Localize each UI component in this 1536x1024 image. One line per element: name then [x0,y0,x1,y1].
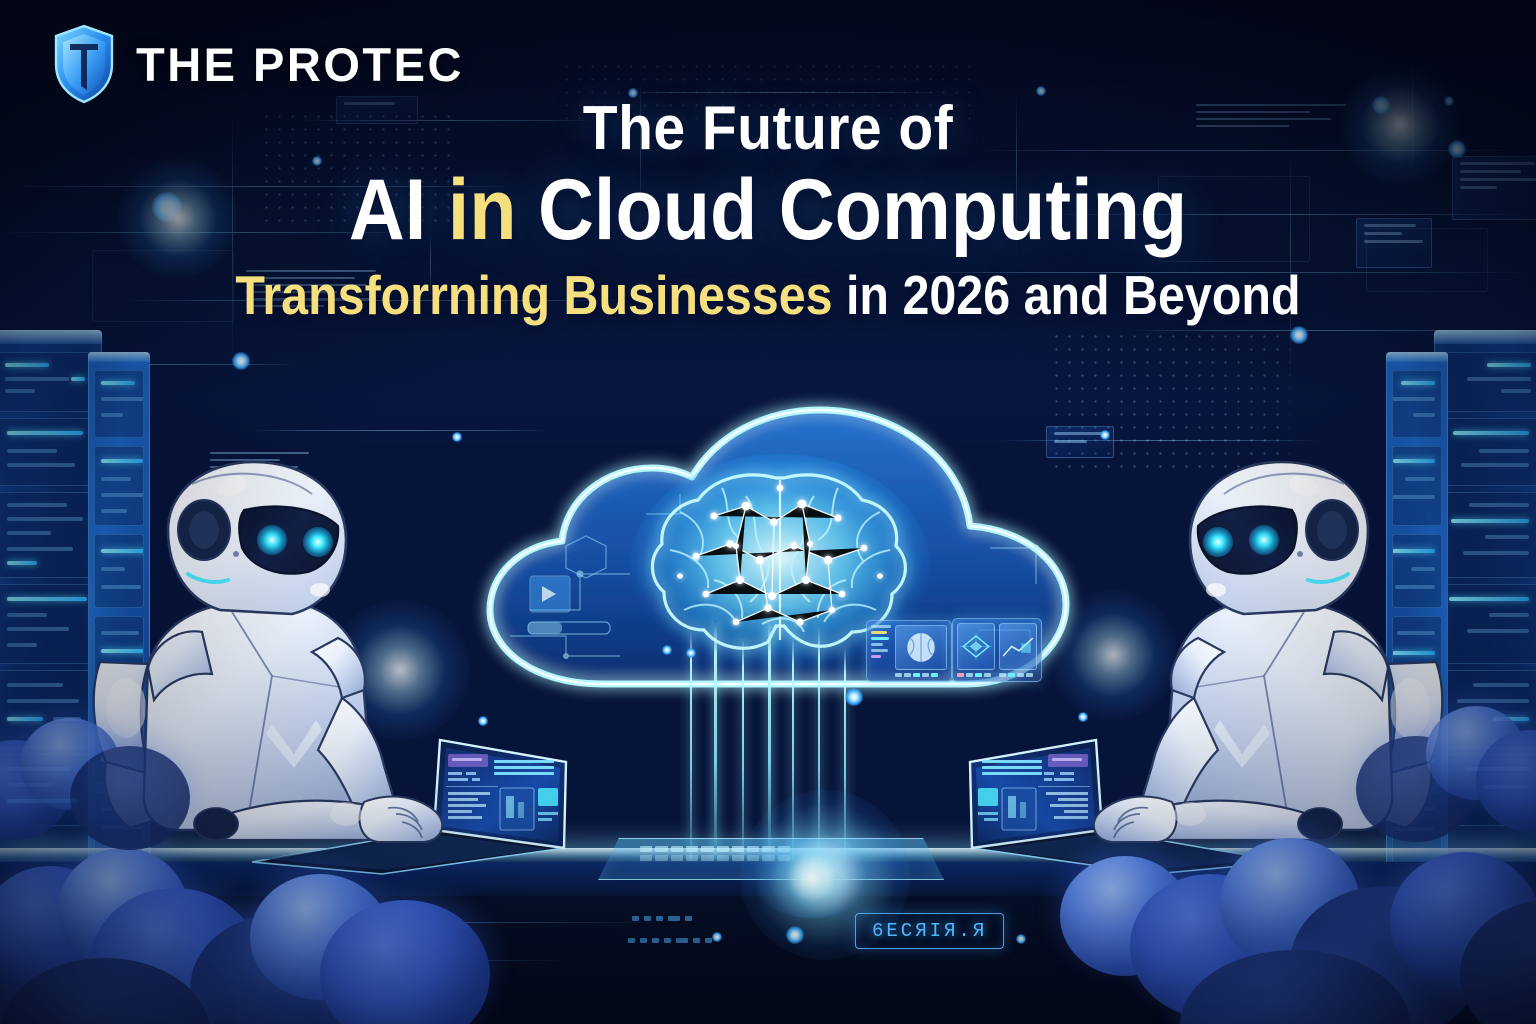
headline-line-2: AI in Cloud Computing [77,166,1459,255]
headline-block: The Future of AI in Cloud Computing Tran… [0,96,1536,325]
brand-name: THE PROTEC [136,37,464,92]
headline-line-1: The Future of [61,96,1474,162]
headline-line-2-part-a: AI [349,162,448,258]
headline-line-2-part-b: Cloud Computing [517,162,1188,258]
subtitle-plain: in 2026 and Beyond [833,264,1301,326]
status-badge[interactable]: 6ECЯIЯ.Я [855,913,1004,949]
headline-accent-in: in [448,162,517,258]
headline-line-3: Transforrning Businesses in 2026 and Bey… [92,267,1444,325]
brand-logo[interactable]: THE PROTEC [52,24,464,104]
shield-logo-icon [52,24,116,104]
subtitle-accent: Transforrning Businesses [235,264,832,326]
status-badge-label: 6ECЯIЯ.Я [872,920,987,942]
banner-canvas: 6ECЯIЯ.Я [0,0,1536,1024]
